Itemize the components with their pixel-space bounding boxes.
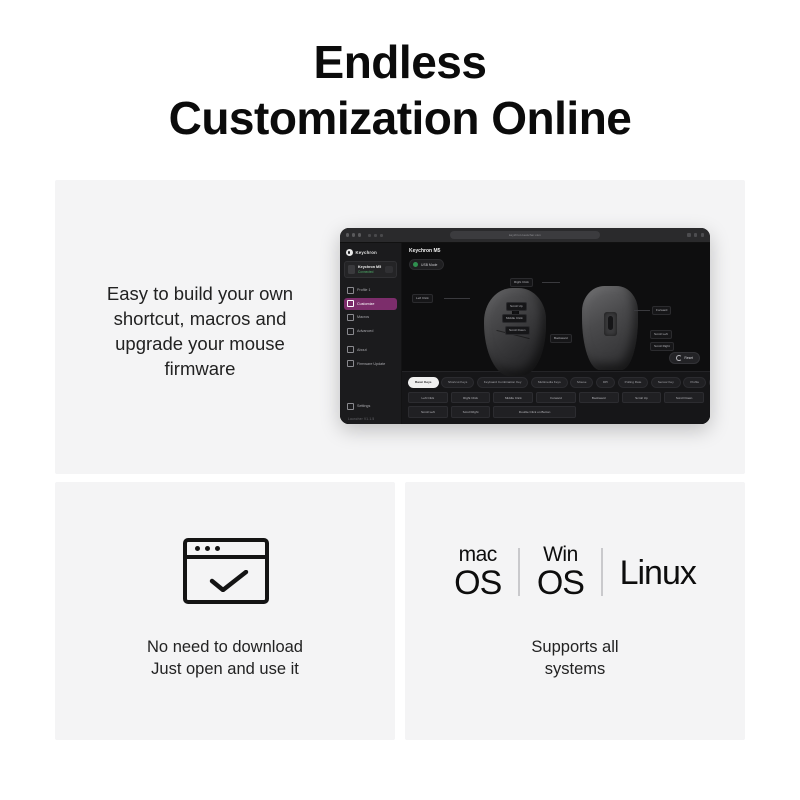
firmware-icon: [347, 360, 354, 367]
tabs-icon[interactable]: [694, 233, 697, 236]
feature-card-supports-all-systems-caption: Supports all systems: [425, 636, 725, 680]
main-title: Keychron M5: [409, 248, 703, 254]
device-card[interactable]: Keychron M5 Connected: [344, 261, 397, 278]
sidebar-item-label: Customize: [357, 302, 374, 306]
key-scroll-right[interactable]: Scroll Right: [451, 406, 491, 418]
linux-logo: Linux: [620, 555, 696, 590]
tab-multimedia-keys[interactable]: Multimedia Keys: [531, 377, 568, 388]
app-main-panel: Keychron M5 USB Mode: [402, 243, 710, 424]
tab-sensor-key[interactable]: Sensor Key: [651, 377, 681, 388]
brand-name: Keychron: [356, 250, 377, 255]
winos-logo: Win OS: [537, 544, 584, 600]
checkmark-icon: [209, 570, 249, 592]
sidebar-item-about[interactable]: About: [344, 344, 397, 356]
browser-window-check-icon: [183, 538, 269, 604]
browser-nav-arrows[interactable]: [368, 234, 383, 237]
advanced-icon: [347, 328, 354, 335]
sidebar-item-advanced[interactable]: Advanced: [344, 325, 397, 337]
maximize-dot-icon[interactable]: [358, 233, 361, 236]
page-title-line1: Endless: [314, 36, 487, 88]
device-status: Connected: [358, 270, 382, 274]
minimize-dot-icon[interactable]: [352, 233, 355, 236]
side-buttons: [604, 312, 617, 336]
key-assignment-panel: Basic Keys Shortcut Keys Keyboard Combin…: [402, 371, 710, 424]
caption-line1: Supports all: [425, 636, 725, 658]
dot-icon: [195, 546, 200, 551]
keychron-launcher-screenshot: keychron.launcher.com Keychron Keychron …: [340, 228, 710, 424]
sidebar-spacer: [344, 371, 397, 400]
caption-line2: systems: [425, 658, 725, 680]
callout-line: [634, 310, 650, 311]
sidebar-item-customize[interactable]: Customize: [344, 298, 397, 310]
mode-status-dot-icon: [413, 262, 418, 267]
callout-backward: Backward: [550, 334, 572, 343]
sidebar-item-label: Settings: [357, 404, 370, 408]
key-right-click[interactable]: Right Click: [451, 392, 491, 404]
callout-scroll-left: Scroll Left: [650, 330, 672, 339]
device-switch-button[interactable]: [385, 266, 393, 273]
page-title: Endless Customization Online: [0, 34, 800, 146]
traffic-light-dots: [346, 233, 361, 236]
usb-mode-toggle[interactable]: USB Mode: [409, 259, 444, 270]
sidebar-item-firmware-update[interactable]: Firmware Update: [344, 357, 397, 369]
winos-logo-bottom: OS: [537, 566, 584, 600]
key-scroll-down[interactable]: Scroll Down: [664, 392, 704, 404]
dot-icon: [205, 546, 210, 551]
tab-keyboard-combination[interactable]: Keyboard Combination Key: [477, 377, 529, 388]
key-category-tabs: Basic Keys Shortcut Keys Keyboard Combin…: [408, 377, 704, 388]
reload-icon[interactable]: [380, 234, 383, 237]
browser-toolbar-right: [687, 233, 704, 236]
tab-shortcut-keys[interactable]: Shortcut Keys: [441, 377, 474, 388]
macos-logo-top: mac: [459, 544, 497, 565]
feature-card-no-download: [55, 482, 395, 740]
key-double-click[interactable]: Double Click on Button: [493, 406, 575, 418]
sidebar-item-label: Firmware Update: [357, 362, 385, 366]
callout-scroll-right: Scroll Right: [650, 342, 674, 351]
macros-icon: [347, 314, 354, 321]
promo-page: Endless Customization Online Easy to bui…: [0, 0, 800, 800]
back-arrow-icon[interactable]: [368, 234, 371, 237]
sidebar-item-macros[interactable]: Macros: [344, 311, 397, 323]
feature-card-supports-all-systems: [405, 482, 745, 740]
gear-icon: [347, 403, 354, 410]
os-divider: [518, 548, 520, 596]
reset-button[interactable]: Reset: [669, 352, 700, 364]
sidebar-item-settings[interactable]: Settings: [344, 400, 397, 412]
app-body: Keychron Keychron M5 Connected Profile 1: [340, 243, 710, 424]
device-name: Keychron M5: [358, 265, 382, 269]
about-icon: [347, 346, 354, 353]
macos-logo: mac OS: [454, 544, 501, 600]
tab-basic-keys[interactable]: Basic Keys: [408, 377, 439, 388]
browser-url-text: keychron.launcher.com: [509, 234, 541, 237]
mouse-render-side-view: [582, 286, 638, 370]
callout-right-click: Right Click: [510, 278, 533, 287]
main-header: Keychron M5 USB Mode: [402, 243, 710, 272]
caption-line1: No need to download: [75, 636, 375, 658]
reset-label: Reset: [684, 356, 693, 360]
sidebar-item-label: Advanced: [357, 329, 373, 333]
linux-logo-bottom: Linux: [620, 556, 696, 590]
close-dot-icon[interactable]: [346, 233, 349, 236]
callout-middle-click: Middle Click: [502, 314, 527, 323]
sidebar-item-label: Macros: [357, 315, 369, 319]
app-sidebar: Keychron Keychron M5 Connected Profile 1: [340, 243, 402, 424]
tab-dpi[interactable]: DPI: [596, 377, 615, 388]
browser-url-bar[interactable]: keychron.launcher.com: [450, 231, 600, 239]
callout-left-click: Left Click: [412, 294, 433, 303]
menu-icon[interactable]: [701, 233, 704, 236]
callout-forward: Forward: [652, 306, 671, 315]
callout-line: [542, 282, 560, 283]
os-divider: [601, 548, 603, 596]
tab-profile[interactable]: Profile: [683, 377, 706, 388]
dot-icon: [215, 546, 220, 551]
feature-card-no-download-caption: No need to download Just open and use it: [75, 636, 375, 680]
tab-polling-rate[interactable]: Polling Rate: [618, 377, 649, 388]
key-backward[interactable]: Backward: [579, 392, 619, 404]
window-titlebar-dots: [187, 542, 265, 559]
forward-arrow-icon[interactable]: [374, 234, 377, 237]
tab-mouse[interactable]: Mouse: [570, 377, 593, 388]
key-forward[interactable]: Forward: [536, 392, 576, 404]
callout-line: [444, 298, 470, 299]
page-title-line2: Customization Online: [0, 90, 800, 146]
sidebar-item-label: About: [357, 348, 367, 352]
feature-card-customization-copy: Easy to build your own shortcut, macros …: [85, 281, 315, 381]
caption-line2: Just open and use it: [75, 658, 375, 680]
reset-icon: [676, 355, 682, 361]
os-logo-row: mac OS Win OS Linux: [405, 536, 745, 608]
launcher-version: Launcher V1.1.5: [348, 417, 397, 421]
brand: Keychron: [346, 249, 397, 256]
usb-mode-label: USB Mode: [421, 263, 437, 267]
winos-logo-top: Win: [543, 544, 578, 565]
browser-titlebar: keychron.launcher.com: [340, 228, 710, 243]
callout-scroll-down: Scroll Down: [505, 326, 530, 335]
callout-scroll-up: Scroll Up: [506, 302, 527, 311]
keychron-logo-icon: [346, 249, 353, 256]
tab-disable[interactable]: Disable: [709, 377, 710, 388]
profile-icon: [347, 287, 354, 294]
key-scroll-left[interactable]: Scroll Left: [408, 406, 448, 418]
sidebar-item-profile[interactable]: Profile 1: [344, 284, 397, 296]
key-left-click[interactable]: Left Click: [408, 392, 448, 404]
share-icon[interactable]: [687, 233, 690, 236]
key-middle-click[interactable]: Middle Click: [493, 392, 533, 404]
key-scroll-up[interactable]: Scroll Up: [622, 392, 662, 404]
sidebar-item-label: Profile 1: [357, 288, 371, 292]
customize-icon: [347, 300, 354, 307]
mouse-device-icon: [348, 265, 355, 274]
macos-logo-bottom: OS: [454, 566, 501, 600]
device-info: Keychron M5 Connected: [358, 265, 382, 274]
key-button-grid: Left Click Right Click Middle Click Forw…: [408, 392, 704, 418]
mouse-preview-stage: Left Click Right Click Scroll Up Middle …: [402, 272, 710, 371]
